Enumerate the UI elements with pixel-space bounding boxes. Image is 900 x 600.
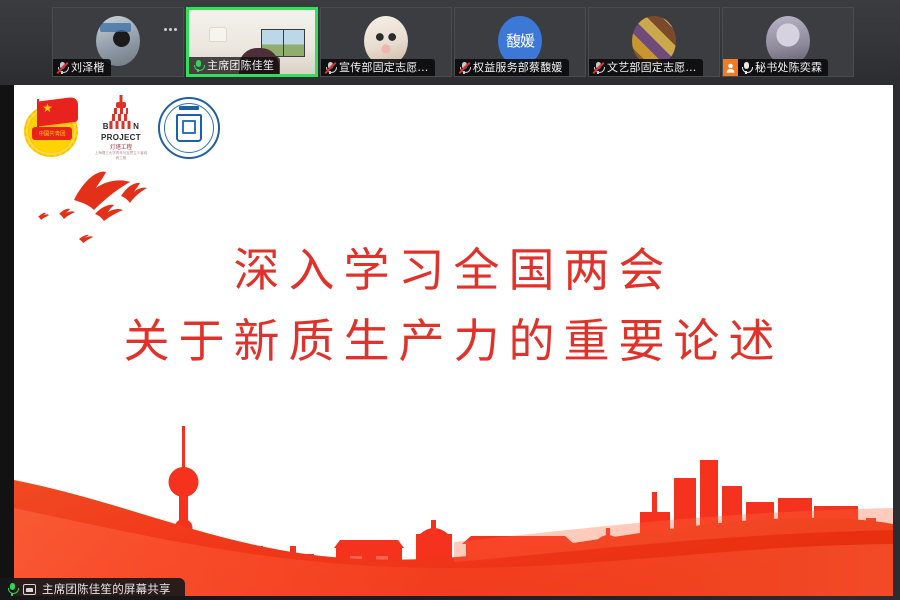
microphone-muted-icon	[324, 61, 336, 75]
shared-screen-stage: ★ 中国共青团 BEACON PROJECT 灯塔工程 上海理工大学青年马克思主…	[0, 85, 900, 600]
participant-tile-chenyilin[interactable]: 秘书处陈奕霖	[722, 7, 854, 77]
flying-birds-decoration	[34, 170, 184, 240]
participant-tile-caifuyuan[interactable]: 馥媛 权益服务部蔡馥媛	[454, 7, 586, 77]
screen-share-status-bar: 主席团陈佳笙的屏幕共享	[0, 578, 185, 600]
participant-namebar: 秘书处陈奕霖	[723, 59, 828, 76]
participant-tile-xuanchuanbu[interactable]: 宣传部固定志愿...	[320, 7, 452, 77]
microphone-muted-icon	[458, 61, 470, 75]
participant-tile-wenyibu[interactable]: 文艺部固定志愿...	[588, 7, 720, 77]
slide-logo-group: ★ 中国共青团 BEACON PROJECT 灯塔工程 上海理工大学青年马克思主…	[22, 95, 220, 161]
microphone-muted-icon	[56, 61, 68, 75]
participant-name: 文艺部固定志愿...	[607, 59, 697, 76]
more-options-icon[interactable]	[162, 22, 178, 36]
beacon-project-logo: BEACON PROJECT 灯塔工程 上海理工大学青年马克思主义者培养工程	[94, 95, 148, 161]
beacon-subtitle: 灯塔工程	[110, 143, 132, 151]
beacon-subtitle-small: 上海理工大学青年马克思主义者培养工程	[94, 151, 148, 161]
participant-tile-chenjiasheng[interactable]: 主席团陈佳笙	[186, 7, 318, 77]
host-person-icon	[723, 59, 738, 76]
participant-filmstrip: 刘泽楷 主席团陈佳笙 宣传部固定志愿...	[0, 0, 900, 85]
zoom-meeting-window: 刘泽楷 主席团陈佳笙 宣传部固定志愿...	[0, 0, 900, 600]
shared-slide: ★ 中国共青团 BEACON PROJECT 灯塔工程 上海理工大学青年马克思主…	[14, 85, 893, 596]
participant-namebar: 刘泽楷	[53, 59, 111, 76]
participant-namebar: 文艺部固定志愿...	[589, 59, 703, 76]
participant-name: 秘书处陈奕霖	[755, 59, 822, 76]
participant-name: 主席团陈佳笙	[207, 57, 274, 74]
participant-tile-liuzekai[interactable]: 刘泽楷	[52, 7, 184, 77]
page-title: 深入学习全国两会 关于新质生产力的重要论述	[14, 235, 893, 378]
screen-share-icon[interactable]	[23, 584, 36, 595]
microphone-on-icon	[740, 61, 752, 75]
microphone-on-icon[interactable]	[6, 582, 18, 596]
participant-namebar: 主席团陈佳笙	[189, 57, 280, 74]
participant-namebar: 权益服务部蔡馥媛	[455, 59, 569, 76]
microphone-on-icon	[192, 59, 204, 73]
cyl-banner-text: 中国共青团	[38, 129, 65, 137]
title-line-1: 深入学习全国两会	[14, 235, 893, 306]
communist-youth-league-emblem: ★ 中国共青团	[22, 97, 84, 159]
microphone-muted-icon	[592, 61, 604, 75]
red-ribbon-wave-decoration	[14, 446, 893, 596]
participant-name: 宣传部固定志愿...	[339, 59, 429, 76]
university-seal-logo	[158, 97, 220, 159]
participant-name: 刘泽楷	[71, 59, 105, 76]
title-line-2: 关于新质生产力的重要论述	[14, 306, 893, 377]
participant-name: 权益服务部蔡馥媛	[473, 59, 563, 76]
participant-namebar: 宣传部固定志愿...	[321, 59, 435, 76]
screen-share-label: 主席团陈佳笙的屏幕共享	[42, 581, 171, 597]
beacon-title-2: PROJECT	[101, 133, 141, 142]
